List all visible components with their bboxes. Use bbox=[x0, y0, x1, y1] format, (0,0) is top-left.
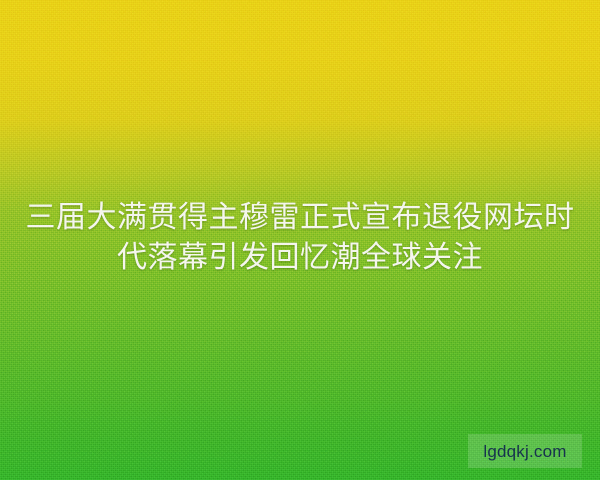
headline-text: 三届大满贯得主穆雷正式宣布退役网坛时代落幕引发回忆潮全球关注 bbox=[0, 198, 600, 278]
watermark-chip: lgdqkj.com bbox=[468, 434, 582, 468]
image-banner: 三届大满贯得主穆雷正式宣布退役网坛时代落幕引发回忆潮全球关注 lgdqkj.co… bbox=[0, 0, 600, 480]
watermark-label: lgdqkj.com bbox=[483, 443, 566, 460]
